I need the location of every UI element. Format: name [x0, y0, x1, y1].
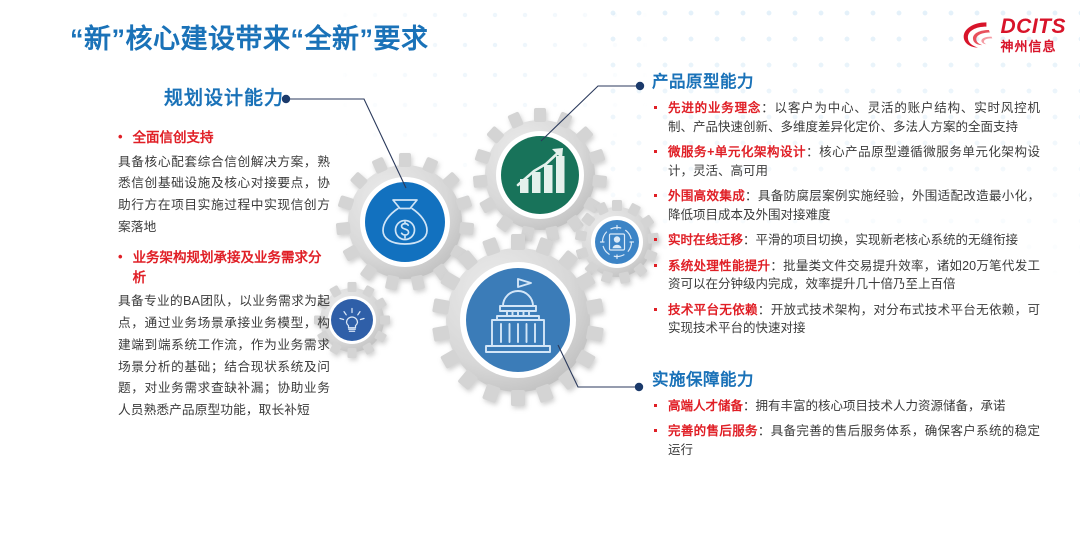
page-title: “新”核心建设带来“全新”要求	[70, 17, 429, 56]
item-sep: ：	[761, 101, 774, 115]
right-section-product: 产品原型能力 先进的业务理念：以客户为中心、灵活的账户结构、实时风控机制、产品快…	[640, 68, 1040, 338]
item-key: 实时在线迁移	[668, 233, 743, 247]
right-section-delivery-heading: 实施保障能力	[652, 366, 1040, 390]
right-section-product-list: 先进的业务理念：以客户为中心、灵活的账户结构、实时风控机制、产品快速创新、多维度…	[640, 99, 1040, 338]
logo-wordmark-cn: 神州信息	[1001, 40, 1067, 53]
gear-government-building	[432, 234, 604, 406]
list-item: 完善的售后服务：具备完善的售后服务体系，确保客户系统的稳定运行	[668, 422, 1040, 459]
left-block-1-title: 全面信创支持	[133, 128, 214, 148]
item-sep: ：	[770, 259, 783, 273]
item-sep: ：	[743, 399, 756, 413]
item-key: 高端人才储备	[668, 399, 743, 413]
logo-wordmark-en: DCITS	[1001, 16, 1067, 37]
left-block-2: • 业务架构规划承接及业务需求分析 具备专业的BA团队，以业务需求为起点，通过业…	[118, 248, 330, 422]
item-text: 拥有丰富的核心项目技术人力资源储备，承诺	[756, 399, 1006, 413]
item-key: 系统处理性能提升	[668, 259, 770, 273]
list-item: 微服务+单元化架构设计：核心产品原型遵循微服务单元化架构设计，灵活、高可用	[668, 143, 1040, 180]
left-block-2-title: 业务架构规划承接及业务需求分析	[133, 248, 330, 287]
item-key: 完善的售后服务	[668, 424, 758, 438]
item-key: 外围高效集成	[668, 189, 745, 203]
bullet-icon: •	[118, 248, 123, 266]
left-block-2-body: 具备专业的BA团队，以业务需求为起点，通过业务场景承接业务模型，构建端到端系统工…	[118, 291, 330, 422]
item-sep: ：	[745, 189, 758, 203]
left-column-heading: 规划设计能力	[118, 83, 330, 110]
company-logo: DCITS 神州信息	[961, 16, 1067, 53]
item-sep: ：	[758, 424, 771, 438]
item-key: 技术平台无依赖	[668, 303, 758, 317]
item-sep: ：	[743, 233, 756, 247]
left-block-2-heading: • 业务架构规划承接及业务需求分析	[118, 248, 330, 287]
left-block-1: • 全面信创支持 具备核心配套综合信创解决方案，熟悉信创基础设施及核心对接要点，…	[118, 128, 330, 239]
list-item: 技术平台无依赖：开放式技术架构，对分布式技术平台无依赖，可实现技术平台的快速对接	[668, 301, 1040, 338]
item-key: 微服务+单元化架构设计	[668, 145, 806, 159]
item-key: 先进的业务理念	[668, 101, 761, 115]
left-block-1-body: 具备核心配套综合信创解决方案，熟悉信创基础设施及核心对接要点，协助行方在项目实施…	[118, 152, 330, 239]
right-section-delivery-list: 高端人才储备：拥有丰富的核心项目技术人力资源储备，承诺 完善的售后服务：具备完善…	[640, 397, 1040, 460]
item-sep: ：	[806, 145, 819, 159]
list-item: 实时在线迁移：平滑的项目切换，实现新老核心系统的无缝衔接	[668, 231, 1040, 250]
right-section-product-heading: 产品原型能力	[652, 68, 1040, 92]
left-column: 规划设计能力 • 全面信创支持 具备核心配套综合信创解决方案，熟悉信创基础设施及…	[118, 83, 330, 431]
list-item: 系统处理性能提升：批量类文件交易提升效率，诸如20万笔代发工资可以在分钟级内完成…	[668, 257, 1040, 294]
right-section-delivery: 实施保障能力 高端人才储备：拥有丰富的核心项目技术人力资源储备，承诺 完善的售后…	[640, 366, 1040, 460]
item-text: 平滑的项目切换，实现新老核心系统的无缝衔接	[756, 233, 1019, 247]
dcits-swirl-icon	[961, 19, 995, 51]
list-item: 外围高效集成：具备防腐层案例实施经验，外围适配改造最小化，降低项目成本及外围对接…	[668, 187, 1040, 224]
item-sep: ：	[758, 303, 771, 317]
slide-canvas: “新”核心建设带来“全新”要求 DCITS 神州信息	[0, 0, 1080, 540]
bullet-icon: •	[118, 128, 123, 146]
gear-money-bag	[336, 153, 474, 291]
right-column: 产品原型能力 先进的业务理念：以客户为中心、灵活的账户结构、实时风控机制、产品快…	[640, 68, 1040, 466]
list-item: 先进的业务理念：以客户为中心、灵活的账户结构、实时风控机制、产品快速创新、多维度…	[668, 99, 1040, 136]
left-block-1-heading: • 全面信创支持	[118, 128, 330, 148]
list-item: 高端人才储备：拥有丰富的核心项目技术人力资源储备，承诺	[668, 397, 1040, 416]
